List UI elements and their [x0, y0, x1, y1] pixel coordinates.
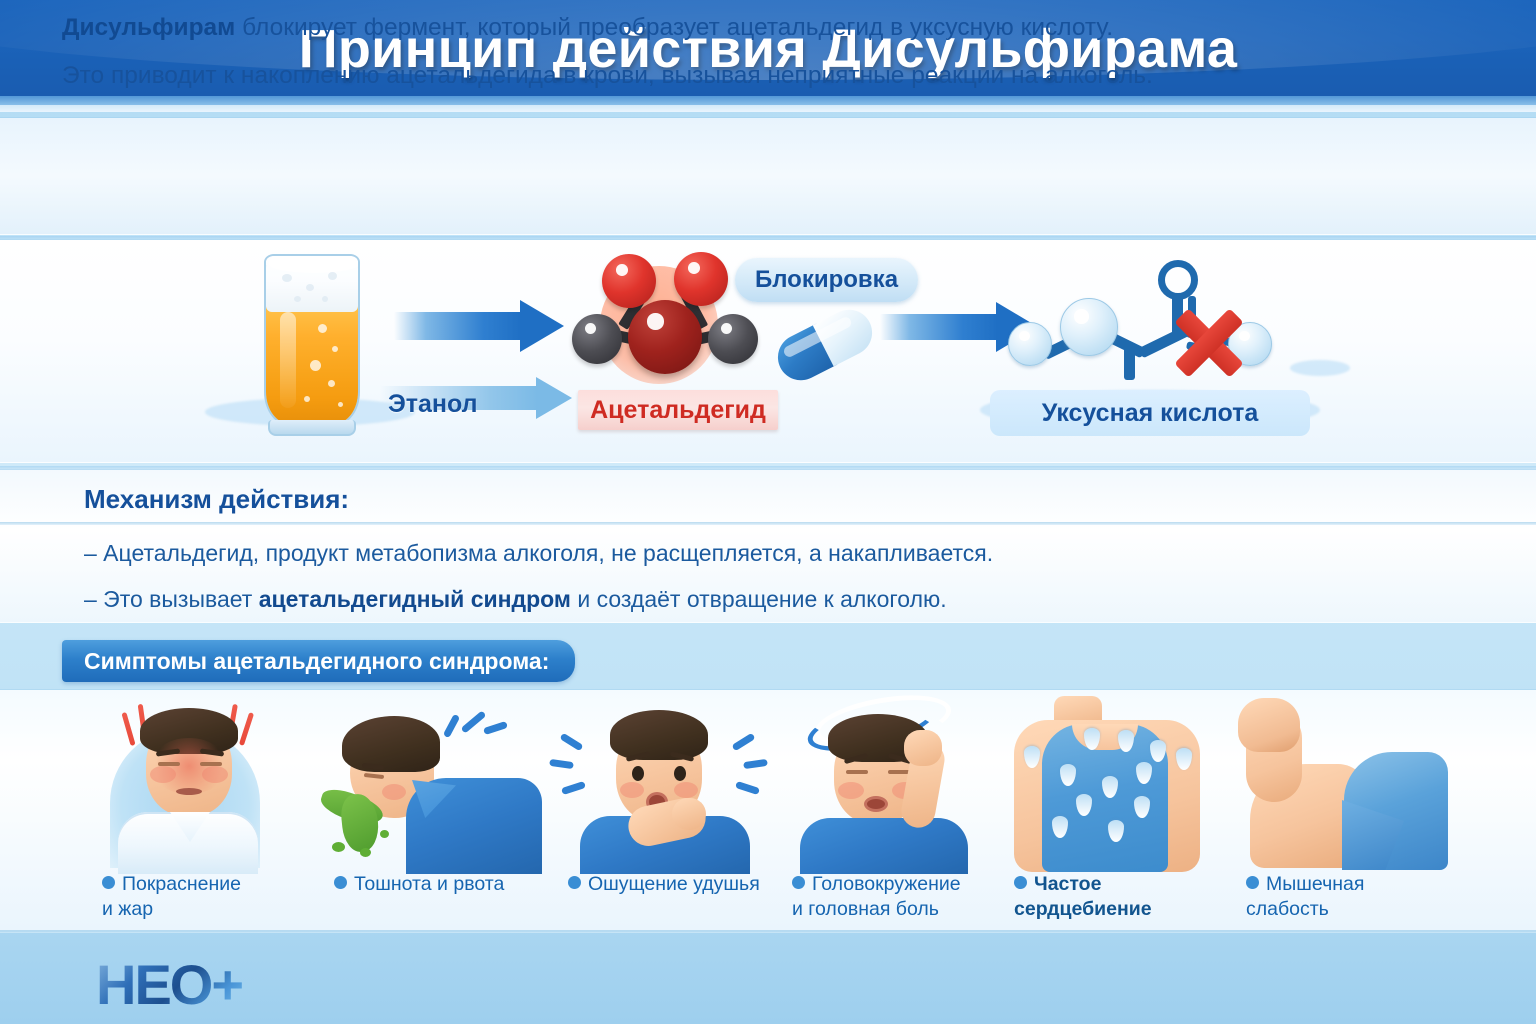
glass-body [264, 254, 360, 426]
glass-base [268, 420, 356, 436]
capsule-pill-icon [770, 302, 880, 388]
header-stripe-light [0, 105, 1536, 112]
symptom-item: Покраснение и жар [88, 690, 318, 940]
vomiting-person-icon [320, 690, 550, 870]
symptom-item: Тошнота и рвота [320, 690, 550, 940]
acetaldehyde-molecule-icon [568, 248, 758, 398]
symptom-item: Головокружение и головная боль [778, 690, 1008, 940]
mechanism-item-2-pre: – Это вызывает [84, 586, 259, 612]
mechanism-divider [0, 522, 1536, 525]
mechanism-item-2-post: и создаёт отвращение к алкоголю. [571, 586, 947, 612]
oxygen-atom [674, 252, 728, 306]
symptom-label-line2: и головная боль [792, 898, 939, 920]
symptom-label-line1: Тошнота и рвота [354, 873, 504, 895]
carbon-atom [572, 314, 622, 364]
sweating-torso-icon [1000, 690, 1230, 870]
blocking-badge: Блокировка [735, 258, 918, 302]
flushed-face-icon [88, 690, 318, 870]
symptom-item: Частое сердцебиение [1000, 690, 1230, 940]
bullet-dot [102, 876, 115, 889]
symptom-label-line1: Ошущение удушья [588, 873, 760, 895]
dizzy-person-icon [778, 690, 1008, 870]
infographic-page: Принцип действия Дисульфирама Дисульфира… [0, 0, 1536, 1024]
beer-glass-icon [258, 250, 366, 440]
bullet-dot [792, 876, 805, 889]
central-atom [628, 300, 702, 374]
symptom-label-line2: и жар [102, 898, 153, 920]
symptoms-header: Симптомы ацетальдегидного синдрома: [62, 640, 575, 682]
oxygen-ring [1158, 260, 1198, 300]
mechanism-title: Механизм действия: [84, 484, 349, 515]
oxygen-atom [602, 254, 656, 308]
footer: НЕО+ [0, 930, 1536, 1024]
intro-drug-name: Дисульфирам [62, 14, 235, 41]
beer-foam [266, 256, 358, 312]
mechanism-item-2: – Это вызывает ацетальдегидный синдром и… [84, 586, 947, 613]
bond [1124, 344, 1135, 380]
ethanol-label: Этанол [388, 390, 478, 419]
symptom-label-line2: сердцебиение [1014, 898, 1152, 920]
mechanism-item-1: – Ацетальдегид, продукт метабопизма алко… [84, 540, 993, 567]
symptom-item: Ошущение удушья [554, 690, 784, 940]
symptom-label-line1: Головокружение [812, 873, 961, 895]
bullet-dot [1246, 876, 1259, 889]
symptom-label-line2: слабость [1246, 898, 1329, 920]
symptom-label-line1: Покраснение [122, 873, 241, 895]
arrow-ethanol-to-acetaldehyde [394, 312, 564, 340]
red-x-icon [1168, 302, 1250, 384]
intro-band [0, 118, 1536, 234]
intro-line-1: Дисульфирам блокирует фермент, который п… [62, 14, 1113, 42]
bullet-dot [1014, 876, 1027, 889]
symptom-label: Головокружение и головная боль [792, 872, 1008, 922]
intro-line-1-rest: блокирует фермент, который преобразует а… [235, 14, 1113, 41]
symptom-item: Мышечная слабость [1232, 690, 1462, 940]
mechanism-item-2-bold: ацетальдегидный синдром [259, 586, 571, 612]
symptom-label: Мышечная слабость [1246, 872, 1462, 922]
acetaldehyde-label: Ацетальдегид [578, 390, 778, 430]
flexed-arm-icon [1232, 690, 1462, 870]
symptom-label: Частое сердцебиение [1014, 872, 1230, 922]
acetic-acid-label: Уксусная кислота [990, 390, 1310, 436]
intro-line-2: Это приводит к накоплению ацетальдегида … [62, 62, 1153, 90]
choking-person-icon [554, 690, 784, 870]
symptom-label: Тошнота и рвота [334, 872, 550, 897]
beer-liquid [266, 306, 358, 424]
puddle-small [1290, 360, 1350, 376]
symptom-label-line1: Мышечная [1266, 873, 1364, 895]
symptom-label: Покраснение и жар [102, 872, 318, 922]
brand-logo: НЕО+ [96, 952, 242, 1017]
header-stripe-dark [0, 96, 1536, 105]
atom-ball [1060, 298, 1118, 356]
symptom-label: Ошущение удушья [568, 872, 784, 897]
symptoms-row: Покраснение и жар [0, 690, 1536, 940]
reaction-diagram: Этанол Ацетальдегид Блокировка [0, 240, 1536, 462]
atom-ball [1008, 322, 1052, 366]
bullet-dot [334, 876, 347, 889]
carbon-atom [708, 314, 758, 364]
symptom-label-line1: Частое [1034, 873, 1101, 895]
acetic-acid-molecule-icon [1000, 260, 1270, 390]
bullet-dot [568, 876, 581, 889]
